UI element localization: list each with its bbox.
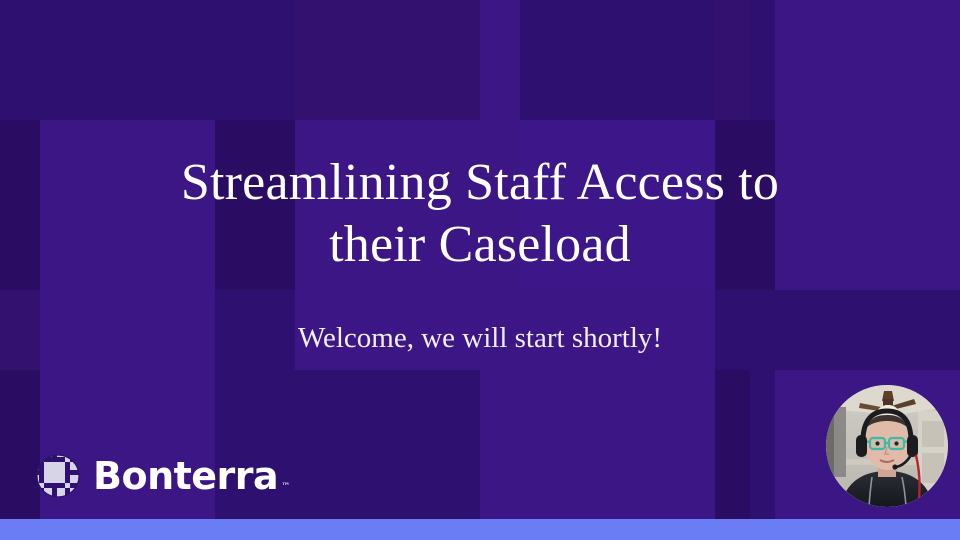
presentation-slide: Streamlining Staff Access to their Casel… [0,0,960,540]
slide-subtitle-block: Welcome, we will start shortly! [80,320,880,356]
slide-title-block: Streamlining Staff Access to their Casel… [80,152,880,277]
bonterra-checkered-circle-icon [36,454,80,498]
trademark-symbol: ™ [281,483,290,495]
slide-subtitle: Welcome, we will start shortly! [80,320,880,356]
page-title: Streamlining Staff Access to their Casel… [80,152,880,277]
bonterra-logo: Bonterra ™ [36,454,290,498]
bonterra-wordmark: Bonterra [93,457,278,495]
webcam-video-feed [826,385,948,507]
bonterra-wordmark-wrap: Bonterra ™ [93,457,290,495]
presenter-webcam-bubble[interactable] [826,385,948,507]
bottom-accent-bar [0,519,960,540]
